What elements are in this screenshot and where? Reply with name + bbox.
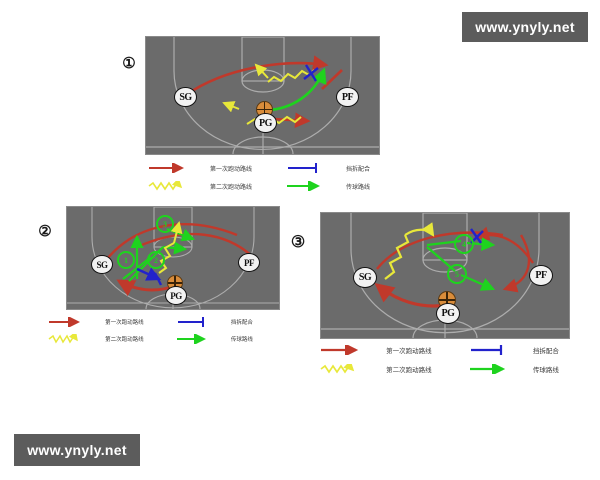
watermark-bottom-text: www.ynyly.net: [27, 442, 127, 458]
sequence-number-3: ③: [286, 230, 310, 254]
legend-label-second-cut-1: 第二次跑动路线: [206, 181, 260, 191]
legend-swatch-second-cut-2: [48, 334, 96, 344]
arrow-green-icon: [176, 334, 212, 344]
zigzag-yellow-icon: [320, 364, 364, 374]
legend-label-pass-2: 传球路线: [228, 334, 263, 344]
legend-2: 第一次跑动路线 挡拆配合 第二次跑动路线 传球路线: [48, 316, 263, 344]
legend-label-first-cut-2: 第一次跑动路线: [102, 316, 154, 328]
player-marker-pf-2: PF: [238, 253, 260, 272]
legend-swatch-screen-1: [268, 162, 334, 174]
sequence-number-2: ②: [34, 220, 56, 242]
legend-swatch-screen-3: [449, 344, 520, 356]
tee-blue-icon: [176, 316, 212, 328]
legend-swatch-second-cut-3: [320, 364, 373, 374]
play-diagram-1: ①: [118, 36, 378, 201]
watermark-bottom: www.ynyly.net: [14, 434, 140, 466]
player-marker-pf-1: PF: [336, 87, 359, 107]
player-marker-sg-1: SG: [174, 87, 197, 107]
zigzag-yellow-icon: [48, 334, 86, 344]
zigzag-yellow-icon: [148, 181, 190, 191]
player-marker-pg-3: PG: [436, 303, 460, 324]
player-marker-sg-3: SG: [353, 267, 377, 288]
legend-swatch-first-cut-2: [48, 316, 96, 328]
legend-swatch-first-cut-3: [320, 344, 373, 356]
legend-label-first-cut-1: 第一次跑动路线: [206, 162, 260, 174]
legend-label-second-cut-3: 第二次跑动路线: [381, 364, 441, 374]
green-marker-3-2: 3: [156, 215, 174, 233]
player-marker-sg-2: SG: [91, 255, 113, 274]
play-diagram-3: ③: [282, 212, 572, 372]
arrow-green-icon: [469, 364, 511, 374]
watermark-top-text: www.ynyly.net: [475, 19, 575, 35]
green-marker-4-3: 4: [454, 234, 474, 254]
player-marker-pg-2: PG: [165, 286, 187, 305]
legend-swatch-pass-2: [160, 334, 222, 344]
legend-3: 第一次跑动路线 挡拆配合 第二次跑动路线 传球路线: [320, 344, 568, 374]
legend-label-screen-1: 挡拆配合: [342, 162, 378, 174]
legend-label-first-cut-3: 第一次跑动路线: [381, 344, 441, 356]
green-marker-5-3: 5: [447, 264, 467, 284]
legend-swatch-pass-3: [449, 364, 520, 374]
tee-blue-icon: [469, 344, 511, 356]
green-marker-2-2: 2: [147, 251, 165, 269]
arrow-green-icon: [286, 181, 326, 191]
legend-label-second-cut-2: 第二次跑动路线: [102, 334, 154, 344]
legend-label-pass-3: 传球路线: [528, 364, 568, 374]
legend-label-screen-3: 挡拆配合: [528, 344, 568, 356]
legend-swatch-second-cut-1: [148, 181, 198, 191]
legend-1: 第一次跑动路线 挡拆配合 第二次跑动路线 传球路线: [148, 162, 378, 191]
play-diagram-2: ②: [28, 206, 278, 346]
green-marker-1-2: 1: [117, 251, 135, 269]
court-1: SG PF PG: [145, 36, 380, 155]
tee-blue-icon: [286, 162, 326, 174]
player-marker-pf-3: PF: [529, 265, 553, 286]
watermark-top: www.ynyly.net: [462, 12, 588, 42]
sequence-number-1: ①: [118, 52, 140, 74]
legend-swatch-first-cut-1: [148, 162, 198, 174]
arrow-red-icon: [320, 345, 364, 355]
legend-swatch-pass-1: [268, 181, 334, 191]
court-2: 3 1 2 SG PF PG: [66, 206, 280, 310]
court-3: 4 5 SG PF PG: [320, 212, 570, 339]
legend-swatch-screen-2: [160, 316, 222, 328]
legend-label-screen-2: 挡拆配合: [228, 316, 263, 328]
arrow-red-icon: [148, 163, 190, 173]
player-marker-pg-1: PG: [254, 113, 277, 133]
arrow-red-icon: [48, 317, 86, 327]
legend-label-pass-1: 传球路线: [342, 181, 378, 191]
